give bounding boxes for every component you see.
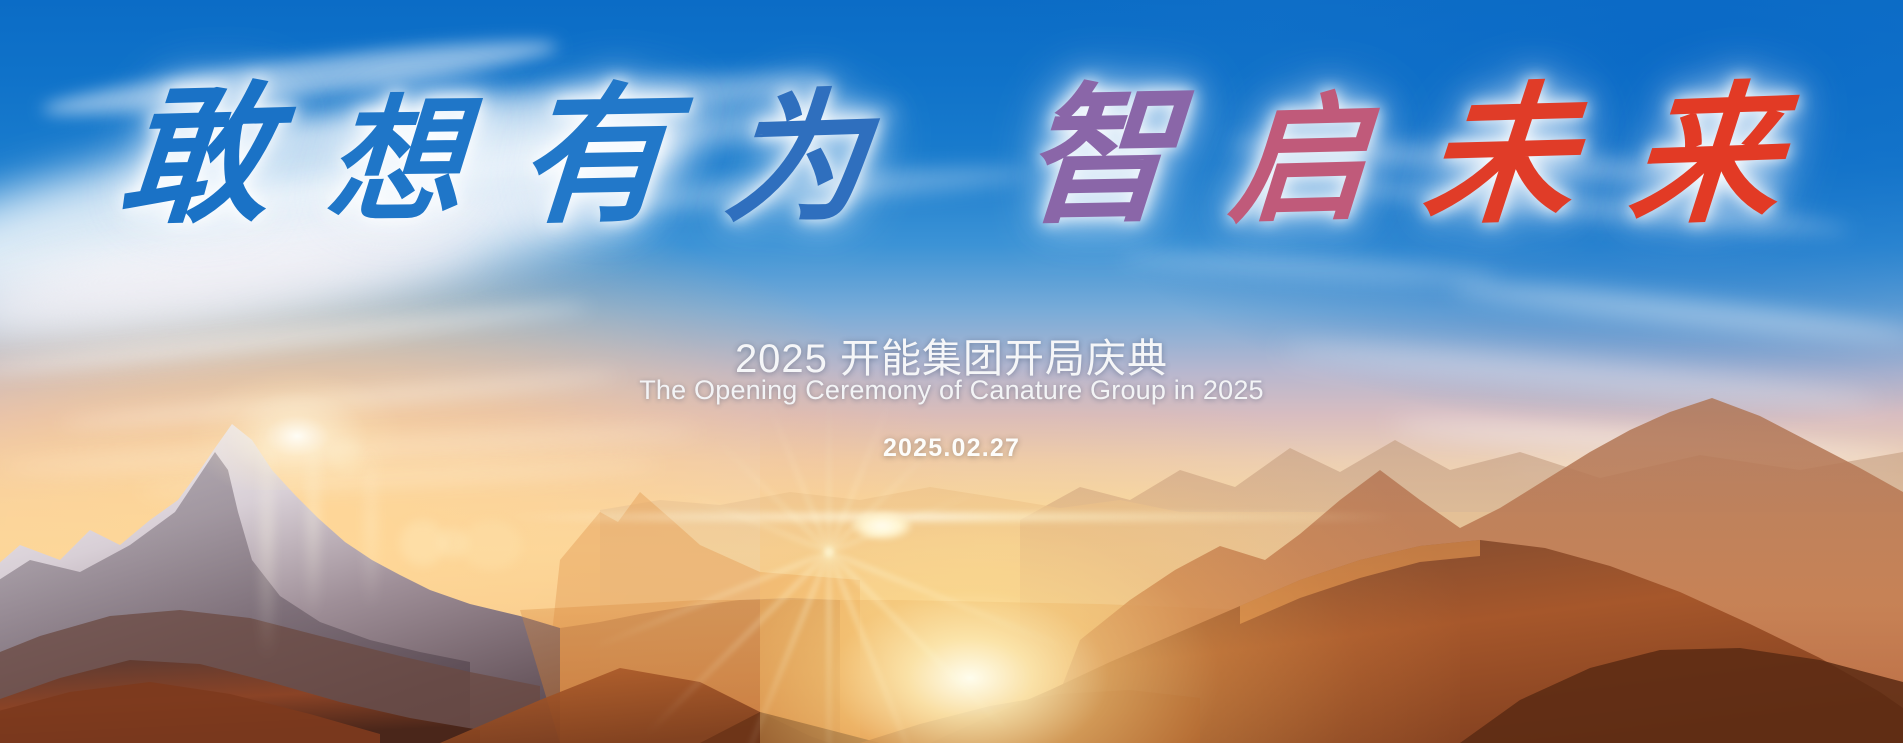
headline-char-5: 智 bbox=[1018, 77, 1181, 237]
headline-char-2: 想 bbox=[322, 89, 469, 233]
lens-flare-dot bbox=[460, 520, 522, 570]
sunrise-glow bbox=[760, 370, 1460, 743]
headline-char-3: 有 bbox=[513, 77, 676, 237]
headline-char-7: 未 bbox=[1418, 76, 1583, 238]
event-banner: 敢 想 有 为 智 启 未 来 2025 开能集团开局庆典 The Openin… bbox=[0, 0, 1903, 743]
sun-horizon-beam bbox=[500, 514, 1400, 520]
headline-char-6: 启 bbox=[1225, 86, 1374, 234]
headline-char-4: 为 bbox=[720, 83, 875, 237]
subtitle-english: The Opening Ceremony of Canature Group i… bbox=[0, 375, 1903, 406]
headline-char-8: 来 bbox=[1625, 75, 1789, 238]
headline-char-1: 敢 bbox=[114, 76, 279, 237]
sun-disk bbox=[852, 512, 912, 540]
headline-calligraphy: 敢 想 有 为 智 启 未 来 bbox=[0, 78, 1903, 236]
event-date: 2025.02.27 bbox=[0, 434, 1903, 463]
lens-streak bbox=[366, 440, 376, 610]
